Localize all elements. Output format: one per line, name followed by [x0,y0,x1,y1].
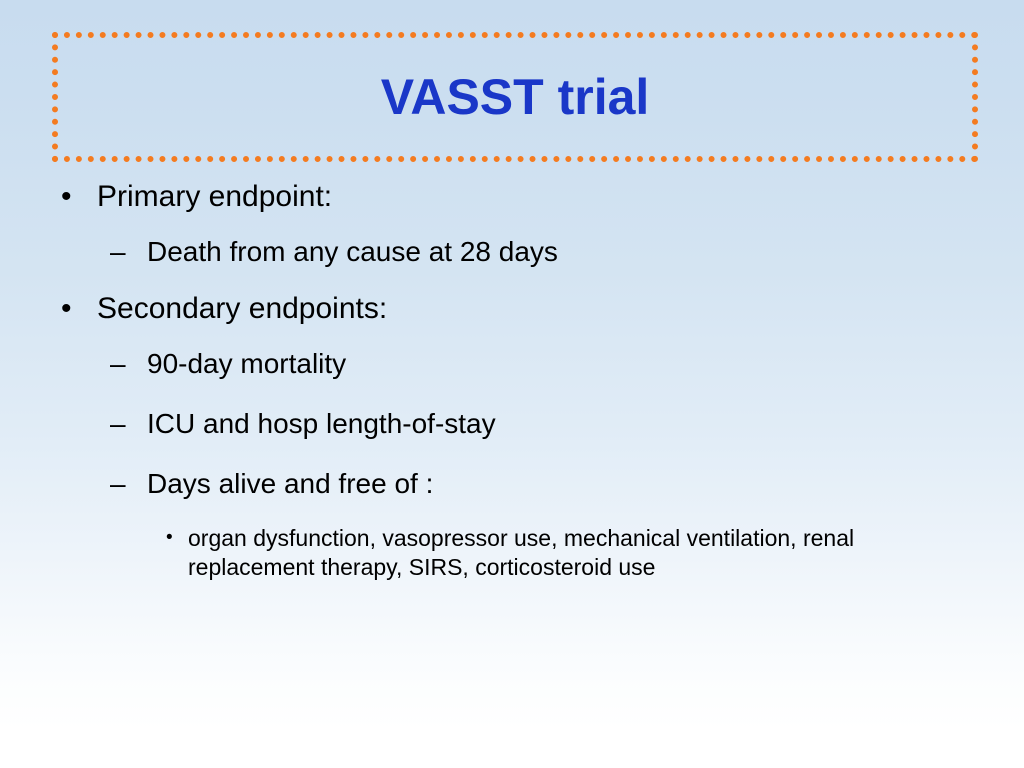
bullet-marker-small-dot: • [166,524,173,552]
bullet-text: 90-day mortality [147,348,346,379]
bullet-text: organ dysfunction, vasopressor use, mech… [188,525,854,580]
bullet-marker-dot: • [61,294,72,324]
bullet-marker-dot: • [61,182,72,212]
bullet-level2: – ICU and hosp length-of-stay [0,410,1024,442]
bullet-level2: – 90-day mortality [0,350,1024,382]
bullet-level2: – Death from any cause at 28 days [0,238,1024,270]
bullet-marker-dash: – [110,470,126,498]
bullet-text: Primary endpoint: [97,180,332,213]
bullet-text: Days alive and free of : [147,468,433,499]
bullet-marker-dash: – [110,350,126,378]
bullet-text: ICU and hosp length-of-stay [147,408,496,439]
bullet-text: Death from any cause at 28 days [147,236,558,267]
slide-body: • Primary endpoint: – Death from any cau… [0,182,1024,588]
bullet-level1: • Primary endpoint: [0,182,1024,216]
bullet-level2: – Days alive and free of : [0,470,1024,502]
title-box: VASST trial [52,32,978,162]
bullet-level3: • organ dysfunction, vasopressor use, me… [0,524,1024,582]
page-title: VASST trial [381,71,650,124]
slide-canvas: VASST trial • Primary endpoint: – Death … [0,0,1024,768]
bullet-marker-dash: – [110,238,126,266]
bullet-text: Secondary endpoints: [97,292,387,325]
slide-footer: ICU TM Resident ICU Course Slide 37 Soci… [0,648,1024,768]
bullet-level1: • Secondary endpoints: [0,294,1024,328]
bullet-marker-dash: – [110,410,126,438]
